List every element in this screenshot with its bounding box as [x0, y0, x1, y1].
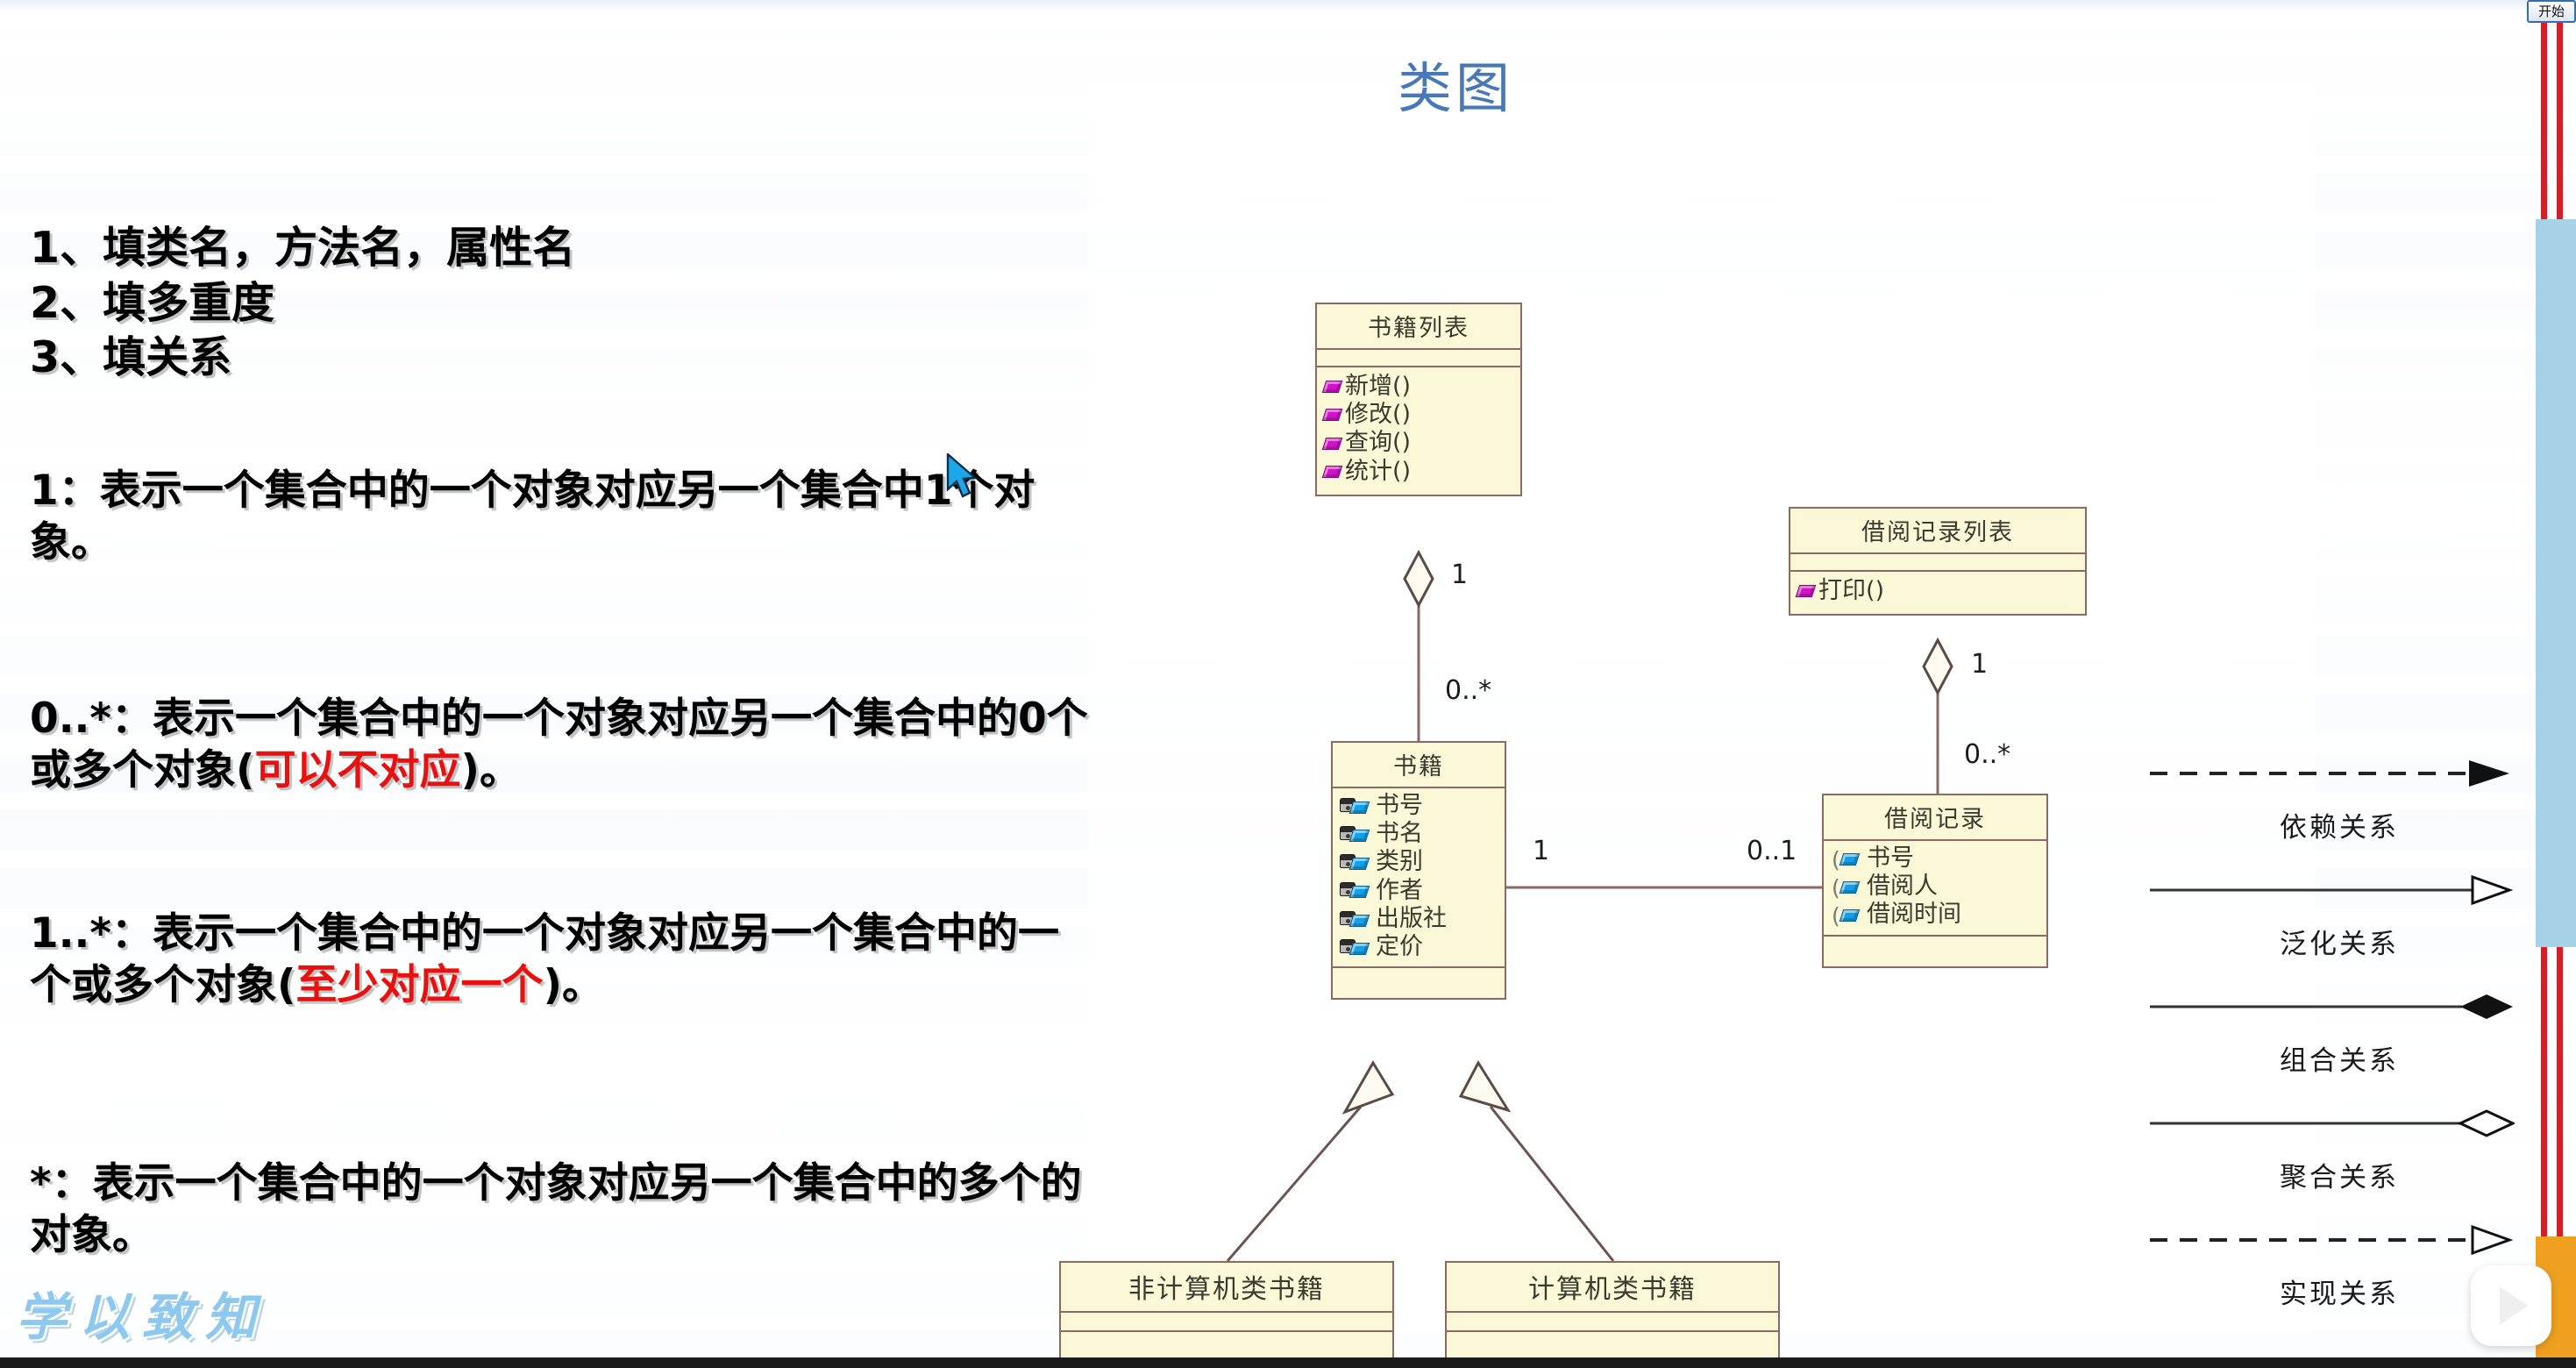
multiplicity-borrow-agg: 0..* — [1964, 739, 2010, 770]
uml-class-book[interactable]: 书籍 书号 书名 类别 作者 出版社 定价 — [1331, 741, 1506, 1000]
edge-decoration — [2525, 0, 2576, 1368]
window-start-button[interactable]: 开始 — [2527, 0, 2576, 23]
uml-attribute-row: 出版社 — [1333, 905, 1505, 933]
uml-class-name: 计算机类书籍 — [1447, 1263, 1778, 1313]
p3-lead: 1..*： — [30, 909, 153, 958]
uml-method-label: 修改() — [1345, 402, 1411, 428]
mouse-cursor — [946, 453, 981, 499]
legend-item-generalization: 泛化关系 — [2146, 871, 2532, 987]
legend-label: 聚合关系 — [2146, 1155, 2532, 1194]
uml-class-name: 非计算机类书籍 — [1061, 1263, 1392, 1313]
uml-class-name: 借阅记录 — [1824, 795, 2046, 841]
uml-method-row: 打印() — [1790, 577, 2085, 605]
uml-attribute-label: 书号 — [1867, 845, 1914, 872]
private-lock-icon — [1340, 797, 1371, 816]
brand-watermark: 学以致知 — [16, 1276, 268, 1350]
paragraph-multiplicity-1: 1：表示一个集合中的一个对象对应另一个集合中1个对象。 — [30, 465, 1082, 568]
uml-attributes-section: (书号 (借阅人 (借阅时间 — [1824, 841, 2046, 937]
uml-method-label: 打印() — [1818, 578, 1884, 604]
method-icon — [1322, 381, 1343, 393]
method-icon — [1322, 409, 1343, 421]
uml-attribute-row: 类别 — [1333, 848, 1505, 876]
private-lock-icon — [1340, 881, 1371, 900]
package-visibility-icon: ( — [1831, 906, 1862, 924]
paragraph-multiplicity-1-star: 1..*：表示一个集合中的一个对象对应另一个集合中的一个或多个对象(至少对应一个… — [30, 908, 1091, 1011]
multiplicity-borrow-assoc: 0..1 — [1747, 836, 1797, 866]
uml-attribute-row: 书名 — [1333, 820, 1505, 848]
uml-methods-section: 打印() — [1790, 572, 2085, 614]
uml-methods-section: 新增() 修改() 查询() 统计() — [1317, 367, 1520, 495]
p1-lead: 1： — [30, 467, 100, 515]
uml-attributes-section: 书号 书名 类别 作者 出版社 定价 — [1333, 788, 1505, 968]
uml-class-borrow[interactable]: 借阅记录 (书号 (借阅人 (借阅时间 — [1822, 794, 2048, 968]
task-bullets: 1、填类名，方法名，属性名 2、填多重度 3、填关系 — [30, 221, 1064, 386]
p4-body: 表示一个集合中的一个对象对应另一个集合中的多个的对象。 — [30, 1159, 1082, 1259]
uml-method-row: 新增() — [1317, 373, 1520, 401]
top-band — [0, 0, 2576, 12]
p1-body: 表示一个集合中的一个对象对应另一个集合中1个对象。 — [30, 467, 1035, 566]
bottom-bar — [0, 1357, 2576, 1368]
private-lock-icon — [1340, 825, 1371, 844]
uml-attribute-row: 书号 — [1333, 792, 1505, 820]
package-visibility-icon: ( — [1831, 850, 1862, 868]
uml-class-booklist[interactable]: 书籍列表 新增() 修改() 查询() 统计() — [1315, 303, 1522, 496]
uml-attribute-label: 出版社 — [1376, 906, 1447, 932]
uml-method-label: 统计() — [1345, 459, 1411, 485]
uml-class-name: 书籍 — [1333, 743, 1505, 788]
method-icon — [1322, 438, 1343, 450]
package-visibility-icon: ( — [1831, 878, 1862, 896]
legend-label: 泛化关系 — [2146, 922, 2532, 961]
uml-class-cs[interactable]: 计算机类书籍 — [1445, 1261, 1780, 1360]
uml-attribute-label: 借阅时间 — [1867, 901, 1961, 928]
uml-attributes-section — [1061, 1313, 1392, 1332]
uml-attributes-section — [1317, 350, 1520, 367]
multiplicity-borrowlist: 1 — [1971, 649, 1988, 680]
uml-attributes-section — [1447, 1313, 1778, 1332]
uml-methods-section — [1061, 1332, 1392, 1358]
p2-highlight: 可以不对应 — [254, 746, 460, 794]
uml-attribute-row: 作者 — [1333, 877, 1505, 905]
multiplicity-book-assoc: 1 — [1533, 836, 1549, 866]
paragraph-multiplicity-0-star: 0..*：表示一个集合中的一个对象对应另一个集合中的0个或多个对象(可以不对应)… — [30, 693, 1091, 796]
legend-item-aggregation: 聚合关系 — [2146, 1104, 2532, 1221]
uml-attributes-section — [1790, 554, 2085, 572]
uml-class-name: 书籍列表 — [1317, 304, 1520, 350]
p2-lead: 0..*： — [30, 695, 153, 743]
private-lock-icon — [1340, 910, 1371, 929]
private-lock-icon — [1340, 938, 1371, 957]
uml-attribute-label: 类别 — [1376, 849, 1423, 875]
page-title: 类图 — [1254, 44, 1657, 123]
method-icon — [1322, 466, 1343, 478]
relationship-legend: 依赖关系 泛化关系 组合关系 聚合关系 实现关系 — [2146, 754, 2532, 1337]
uml-attribute-label: 作者 — [1376, 878, 1423, 904]
uml-method-row: 修改() — [1317, 401, 1520, 429]
legend-label: 依赖关系 — [2146, 805, 2532, 844]
uml-attribute-label: 书名 — [1376, 821, 1423, 847]
uml-method-row: 查询() — [1317, 429, 1520, 457]
uml-attribute-label: 定价 — [1376, 934, 1423, 960]
uml-attribute-row: (书号 — [1824, 844, 2046, 873]
p3-after: )。 — [543, 961, 602, 1009]
p3-highlight: 至少对应一个 — [295, 961, 543, 1009]
uml-methods-section — [1824, 937, 2046, 966]
multiplicity-book-agg: 0..* — [1445, 675, 1491, 706]
private-lock-icon — [1340, 853, 1371, 872]
uml-class-borrowlist[interactable]: 借阅记录列表 打印() — [1789, 507, 2087, 616]
diagram-backdrop — [1087, 79, 2315, 1333]
p2-before: 表示一个集合中的一个对象对应另一个集合中的0个或多个对象( — [30, 695, 1088, 794]
multiplicity-booklist: 1 — [1451, 559, 1468, 590]
p4-lead: *： — [30, 1159, 93, 1208]
uml-method-row: 统计() — [1317, 458, 1520, 486]
legend-item-composition: 组合关系 — [2146, 987, 2532, 1104]
method-icon — [1796, 585, 1817, 597]
legend-item-dependency: 依赖关系 — [2146, 754, 2532, 871]
uml-attribute-row: 定价 — [1333, 933, 1505, 961]
play-button-watermark — [2471, 1265, 2551, 1346]
legend-label: 组合关系 — [2146, 1038, 2532, 1078]
uml-method-label: 新增() — [1345, 374, 1411, 400]
uml-class-name: 借阅记录列表 — [1790, 509, 2085, 554]
uml-attribute-row: (借阅人 — [1824, 873, 2046, 901]
uml-method-label: 查询() — [1345, 430, 1411, 456]
uml-attribute-label: 书号 — [1376, 793, 1423, 819]
uml-methods-section — [1333, 968, 1505, 998]
uml-attribute-row: (借阅时间 — [1824, 901, 2046, 929]
uml-attribute-label: 借阅人 — [1867, 873, 1938, 900]
paragraph-multiplicity-star: *：表示一个集合中的一个对象对应另一个集合中的多个的对象。 — [30, 1158, 1091, 1261]
uml-methods-section — [1447, 1332, 1778, 1358]
uml-class-noncs[interactable]: 非计算机类书籍 — [1059, 1261, 1394, 1360]
p2-after: )。 — [460, 746, 520, 794]
